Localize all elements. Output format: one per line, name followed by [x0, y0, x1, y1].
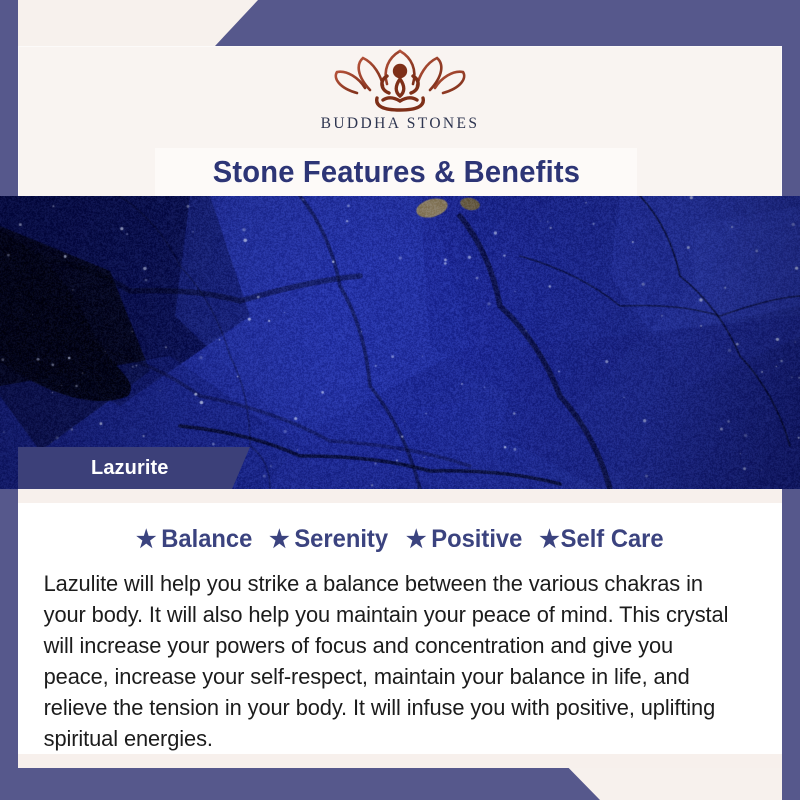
title-banner: Stone Features & Benefits: [155, 148, 637, 196]
photo-bottom-strip: [18, 489, 782, 503]
brand-header: BUDDHA STONES: [18, 46, 782, 150]
rock-photo-canvas: [0, 196, 800, 489]
star-icon: ★: [136, 528, 156, 552]
feature-keyword: ★Positive: [406, 525, 522, 554]
frame-top-diagonal-band: [0, 0, 800, 46]
star-icon: ★: [539, 528, 559, 552]
star-icon: ★: [406, 528, 426, 552]
lazurite-rock-photo: Lazurite: [0, 196, 800, 489]
feature-keyword-label: Balance: [161, 525, 252, 554]
feature-keyword: ★Balance: [136, 525, 252, 554]
content-bottom-strip: [18, 754, 782, 768]
stone-name-label: Lazurite: [91, 457, 168, 480]
feature-keywords-row: ★Balance★Serenity★Positive★Self Care: [32, 525, 768, 554]
feature-keyword: ★Self Care: [539, 525, 663, 554]
feature-keyword-label: Positive: [431, 525, 522, 554]
lotus-meditation-figure-icon: [325, 48, 475, 114]
stone-name-chip: Lazurite: [18, 447, 250, 489]
star-icon: ★: [270, 528, 290, 552]
page-title: Stone Features & Benefits: [212, 154, 579, 190]
brand-wordmark: BUDDHA STONES: [321, 115, 480, 133]
content-panel: ★Balance★Serenity★Positive★Self Care Laz…: [18, 503, 782, 754]
feature-keyword: ★Serenity: [270, 525, 389, 554]
feature-keyword-label: Serenity: [295, 525, 389, 554]
feature-keyword-label: Self Care: [561, 525, 664, 554]
stone-description: Lazulite will help you strike a balance …: [32, 568, 746, 754]
poster-canvas: BUDDHA STONES Stone Features & Benefits …: [0, 0, 800, 800]
